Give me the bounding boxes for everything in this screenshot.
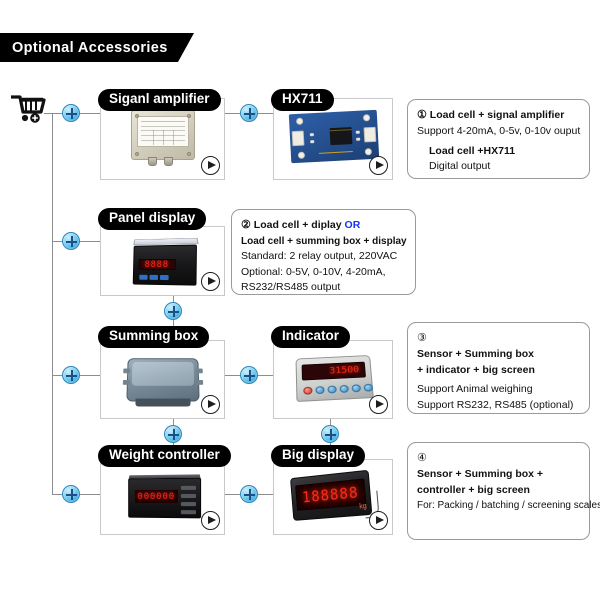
info-panel-2-title: Load cell + diplay [254,219,342,231]
info-panel-4-title2: controller + big screen [417,483,580,499]
signal-amplifier-image [131,110,195,160]
info-panel-3-line-1: Support RS232, RS485 (optional) [417,398,580,414]
product-label-summing-box: Summing box [98,326,209,348]
product-card-panel-display[interactable]: 8888 [100,226,225,296]
info-panel-3: ③ Sensor + Summing box + indicator + big… [407,322,590,414]
info-panel-4: ④ Sensor + Summing box + controller + bi… [407,442,590,540]
product-card-indicator[interactable]: 31500 [273,340,393,419]
panel-display-buttons[interactable] [140,275,169,280]
info-panel-2-or: OR [345,219,361,231]
plus-connector-right-3-4[interactable] [321,425,339,443]
info-panel-1: ① Load cell + signal amplifier Support 4… [407,99,590,179]
product-label-hx711: HX711 [271,89,334,111]
plus-connector-row2-left[interactable] [62,232,80,250]
info-panel-2-line-2: RS232/RS485 output [241,280,406,296]
play-button-icon[interactable] [369,156,388,175]
info-panel-4-number: ④ [417,452,427,464]
amp-label-plate [137,116,189,148]
product-label-signal-amplifier: Siganl amplifier [98,89,221,111]
weight-controller-image: 000000 [128,478,201,519]
indicator-image: 31500 [296,355,374,402]
info-panel-3-title2: + indicator + big screen [417,363,580,379]
info-panel-2-line-0: Standard: 2 relay output, 220VAC [241,249,406,265]
panel-display-top-face [133,238,198,245]
product-card-big-display[interactable]: 188888 kg [273,459,393,535]
big-display-image: 188888 kg [290,470,372,521]
plus-connector-row4-left[interactable] [62,485,80,503]
info-panel-2-line-1: Optional: 0-5V, 0-10V, 4-20mA, [241,265,406,281]
indicator-keypad[interactable] [303,384,373,395]
summing-box-base [136,399,190,407]
play-button-icon[interactable] [201,395,220,414]
info-panel-4-line-0: For: Packing / batching / screening scal… [417,498,580,513]
summing-box-lid [132,362,194,386]
play-button-icon[interactable] [201,511,220,530]
indicator-led-readout: 31500 [302,361,366,380]
plus-connector-row1-mid[interactable] [240,104,258,122]
shopping-cart-add-icon[interactable] [10,94,46,124]
info-panel-3-number: ③ [417,332,427,344]
hx711-pcb-image [289,110,379,164]
info-panel-1-number: ① [417,109,427,121]
info-panel-1-title: Load cell + signal amplifier [430,109,565,121]
play-button-icon[interactable] [369,511,388,530]
product-label-panel-display: Panel display [98,208,206,230]
info-panel-1-line-0: Support 4-20mA, 0-5v, 0-10v ouput [417,124,580,140]
page-banner: Optional Accessories [0,33,178,62]
info-panel-2: ② Load cell + diplay OR Load cell + summ… [231,209,416,295]
product-label-indicator: Indicator [271,326,350,348]
plus-connector-row4-mid[interactable] [240,485,258,503]
panel-display-image: 8888 [133,245,197,286]
plus-connector-row1-left[interactable] [62,104,80,122]
info-panel-2-title2: Load cell + summing box + display [241,234,406,249]
weight-controller-top-face [129,474,201,478]
product-label-weight-controller: Weight controller [98,445,231,467]
weight-controller-keys[interactable] [180,486,196,519]
plus-connector-row3-mid[interactable] [240,366,258,384]
panel-display-led-readout: 8888 [139,259,176,270]
plus-connector-row3-left[interactable] [62,366,80,384]
summing-box-image [126,358,199,401]
page-title: Optional Accessories [0,40,168,56]
product-label-big-display: Big display [271,445,365,467]
play-button-icon[interactable] [369,395,388,414]
info-panel-4-title: Sensor + Summing box + [417,467,580,483]
weight-controller-led-readout: 000000 [135,490,179,503]
product-card-weight-controller[interactable]: 000000 [100,459,225,535]
plus-connector-left-2-3[interactable] [164,302,182,320]
tree-spine [52,113,53,495]
info-panel-3-title: Sensor + Summing box [417,347,580,363]
big-display-led-readout: 188888 [295,478,366,510]
info-panel-1-line-2: Digital output [417,159,580,175]
info-panel-2-number: ② [241,219,251,231]
banner-tail-decoration [178,33,194,62]
plus-connector-left-3-4[interactable] [164,425,182,443]
product-card-summing-box[interactable] [100,340,225,419]
play-button-icon[interactable] [201,272,220,291]
info-panel-1-line-1: Load cell +HX711 [417,144,580,160]
play-button-icon[interactable] [201,156,220,175]
info-panel-3-line-0: Support Animal weighing [417,382,580,398]
